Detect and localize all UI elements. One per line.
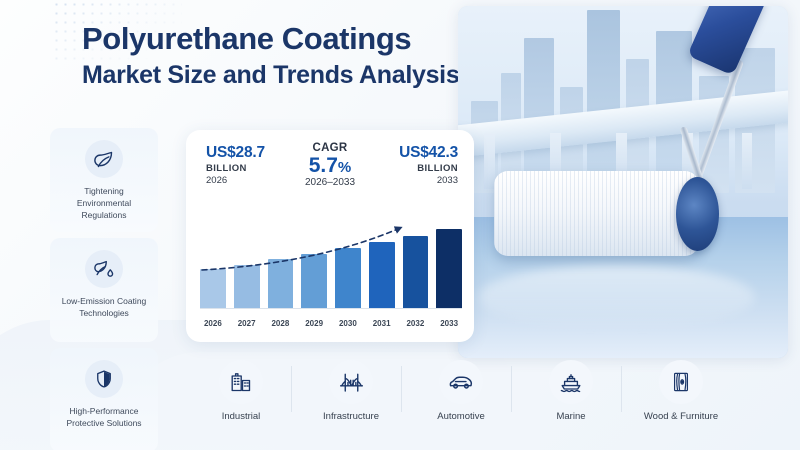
application-industrial[interactable]: Industrial (186, 360, 296, 424)
shield-icon (85, 360, 123, 398)
car-icon (439, 360, 483, 404)
forecast-value: US$42.3 (399, 144, 458, 162)
driver-item-environmental-regulations[interactable]: Tightening Environmental Regulations (50, 128, 158, 232)
application-infrastructure[interactable]: Infrastructure (296, 360, 406, 424)
base-value: US$28.7 (206, 144, 265, 162)
application-segments-row: Industrial Infrastructure (186, 360, 786, 444)
driver-label: Tightening Environmental Regulations (50, 185, 158, 221)
application-marine[interactable]: Marine (516, 360, 626, 424)
application-label: Wood & Furniture (644, 411, 718, 424)
paint-roller-nap (494, 171, 699, 255)
skyline-building (587, 10, 620, 193)
trend-arrow-icon (200, 212, 462, 332)
page-header: Polyurethane Coatings Market Size and Tr… (82, 22, 482, 91)
application-label: Marine (556, 411, 585, 424)
market-size-chart-card: US$28.7 BILLION 2026 CAGR 5.7% 2026–2033… (186, 130, 474, 342)
forecast-unit: BILLION (399, 163, 458, 174)
driver-item-low-emission-technologies[interactable]: Low-Emission Coating Technologies (50, 238, 158, 342)
application-label: Infrastructure (323, 411, 379, 424)
wood-icon (659, 360, 703, 404)
hero-image-paint-roller (458, 6, 788, 358)
application-wood-furniture[interactable]: Wood & Furniture (626, 360, 736, 424)
cagr-range: 2026–2033 (305, 177, 355, 188)
hero-bridge-pier (484, 133, 495, 189)
base-unit: BILLION (206, 163, 265, 174)
infographic-canvas: Polyurethane Coatings Market Size and Tr… (0, 0, 800, 450)
base-year-stat: US$28.7 BILLION 2026 (206, 144, 265, 186)
driver-label: Low-Emission Coating Technologies (50, 295, 158, 319)
chart-stat-row: US$28.7 BILLION 2026 CAGR 5.7% 2026–2033… (186, 130, 474, 204)
cagr-percent-sign: % (338, 159, 351, 176)
hero-bridge-pier (742, 133, 753, 189)
paint-roller-end-cap (676, 177, 719, 251)
bar-chart-plot-area: 20262027202820292030203120322033 (200, 212, 462, 332)
driver-label: High-Performance Protective Solutions (50, 405, 158, 429)
application-label: Automotive (437, 411, 485, 424)
bridge-icon (329, 360, 373, 404)
application-automotive[interactable]: Automotive (406, 360, 516, 424)
page-subtitle: Market Size and Trends Analysis (82, 59, 482, 92)
forecast-year: 2033 (399, 175, 458, 186)
cagr-value: 5.7 (309, 154, 338, 177)
cagr-value-wrap: 5.7% (305, 155, 355, 176)
driver-item-protective-solutions[interactable]: High-Performance Protective Solutions (50, 348, 158, 450)
building-icon (219, 360, 263, 404)
base-year: 2026 (206, 175, 265, 186)
application-label: Industrial (222, 411, 261, 424)
cagr-label: CAGR (305, 142, 355, 154)
leaf-droplet-icon (85, 250, 123, 288)
market-drivers-rail: Tightening Environmental Regulations Low… (50, 128, 158, 450)
page-title: Polyurethane Coatings (82, 22, 482, 57)
cagr-stat: CAGR 5.7% 2026–2033 (305, 142, 355, 188)
ship-icon (549, 360, 593, 404)
leaf-icon (85, 140, 123, 178)
forecast-year-stat: US$42.3 BILLION 2033 (399, 144, 458, 186)
